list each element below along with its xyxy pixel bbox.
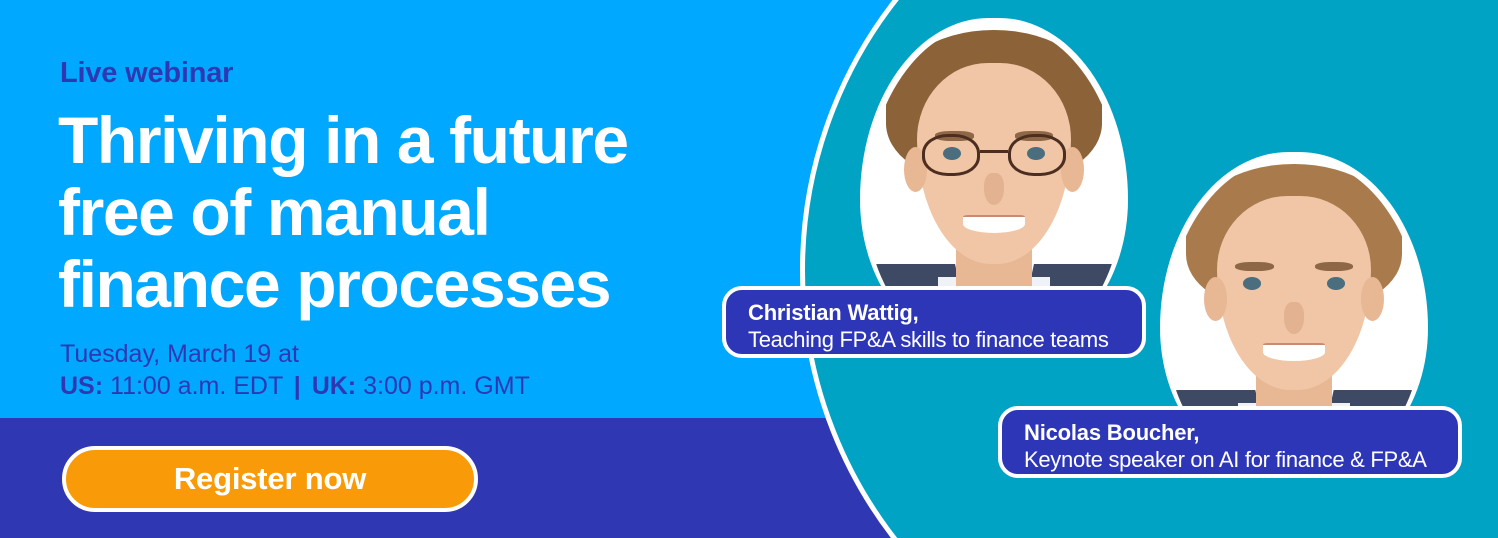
eye-right xyxy=(1327,277,1345,290)
headline-line-1: Thriving in a future xyxy=(58,104,758,176)
brow-left xyxy=(1235,262,1273,271)
webinar-promo-banner: Live webinar Thriving in a future free o… xyxy=(0,0,1498,538)
eyeglasses-icon xyxy=(922,134,1065,176)
speaker-badge-christian-wattig: Christian Wattig, Teaching FP&A skills t… xyxy=(722,286,1146,358)
eyebrow-label: Live webinar xyxy=(60,57,233,90)
headline-line-2: free of manual xyxy=(58,176,758,248)
face xyxy=(1217,196,1371,391)
brow-right xyxy=(1315,262,1353,271)
uk-time-value: 3:00 p.m. GMT xyxy=(363,372,530,400)
time-separator: | xyxy=(290,372,305,400)
speaker-name: Christian Wattig, xyxy=(748,299,1120,326)
us-time-value: 11:00 a.m. EDT xyxy=(110,372,283,400)
ear-right xyxy=(1361,277,1384,321)
register-now-button[interactable]: Register now xyxy=(62,446,478,512)
glasses-bridge xyxy=(980,150,1009,153)
mouth xyxy=(1263,343,1324,361)
event-date: Tuesday, March 19 at xyxy=(60,340,299,368)
event-datetime: Tuesday, March 19 at US: 11:00 a.m. EDT … xyxy=(60,338,530,402)
speaker-badge-nicolas-boucher: Nicolas Boucher, Keynote speaker on AI f… xyxy=(998,406,1462,478)
speaker-role: Teaching FP&A skills to finance teams xyxy=(748,326,1120,354)
register-now-label: Register now xyxy=(174,461,366,497)
lens-left xyxy=(922,134,979,176)
page-title: Thriving in a future free of manual fina… xyxy=(58,104,758,320)
lens-right xyxy=(1008,134,1065,176)
event-times: US: 11:00 a.m. EDT | UK: 3:00 p.m. GMT xyxy=(60,370,530,402)
headline-line-3: finance processes xyxy=(58,248,758,320)
us-time-label: US: xyxy=(60,372,103,400)
nose xyxy=(1284,302,1304,333)
eye-left xyxy=(1243,277,1261,290)
speaker-name: Nicolas Boucher, xyxy=(1024,419,1436,446)
speaker-role: Keynote speaker on AI for finance & FP&A xyxy=(1024,446,1436,474)
uk-time-label: UK: xyxy=(312,372,356,400)
